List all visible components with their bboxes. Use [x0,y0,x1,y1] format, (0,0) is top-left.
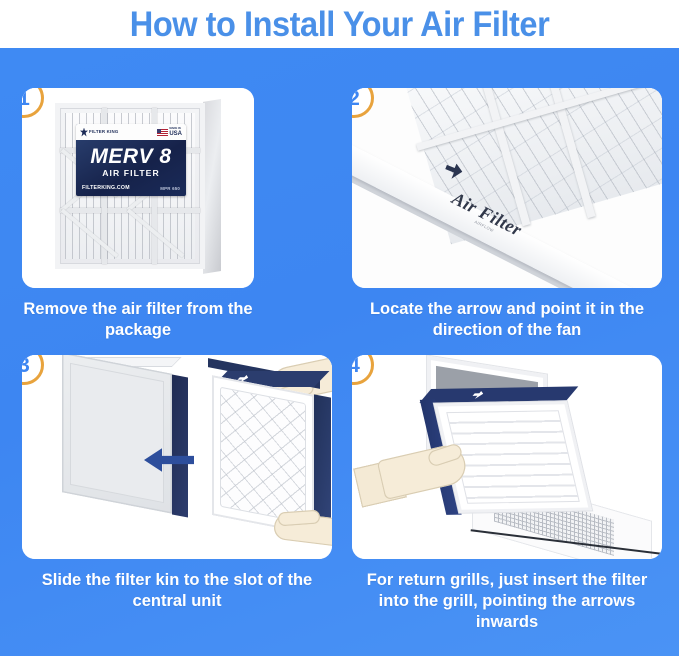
filter-top-face [419,386,578,402]
step-3-number: 3 [22,355,30,376]
new-filter [212,385,322,525]
filter-corner-photo: Air Filter AIRFLOW [352,88,662,288]
step-1-card: FILTER KING MADE IN USA [22,88,254,288]
step-3-caption: Slide the filter kin to the slot of the … [22,570,332,612]
step-2: Air Filter AIRFLOW 2 Locate the arrow an… [352,88,662,341]
sliding-filter-illustration [22,355,332,559]
slot-inner-panel [70,363,164,503]
usa-flag-icon [157,129,168,136]
slot-dark-edge [172,374,188,517]
step-2-number: 2 [352,88,360,109]
filter-mesh-pattern [220,387,306,524]
brand-name: FILTER KING [89,130,118,135]
filter-front-face: FILTER KING MADE IN USA [55,103,205,269]
usa-text: USA [169,131,182,137]
step-4-card: 4 [352,355,662,559]
step-4-number: 4 [352,355,360,376]
step-3-card: 3 [22,355,332,559]
air-filter-subtitle: AIR FILTER [76,168,186,178]
step-1-number: 1 [22,88,30,109]
step-4: 4 For return grills, just insert the fil… [352,355,662,633]
return-grill-illustration [352,355,662,559]
step-1-caption: Remove the air filter from the package [22,299,254,341]
page-title: How to Install Your Air Filter [130,7,549,42]
mpr-rating-text: MPR 650 [160,186,180,191]
made-in-usa-badge: MADE IN USA [157,127,182,137]
grill-louvers [446,410,580,504]
step-1: FILTER KING MADE IN USA [22,88,254,341]
step-3: 3 Slide the filter kin to the slot of th… [22,355,332,612]
filter-box: FILTER KING MADE IN USA [55,99,221,271]
air-filter-in-package-photo: FILTER KING MADE IN USA [22,88,254,288]
website-text: FILTERKING.COM [82,185,130,191]
crown-icon [80,128,88,137]
step-4-caption: For return grills, just insert the filte… [352,570,662,633]
steps-grid: FILTER KING MADE IN USA [0,48,679,656]
filter-side-face [203,99,221,274]
label-top-strip: FILTER KING MADE IN USA [76,124,186,140]
filter-product-label: FILTER KING MADE IN USA [76,124,186,196]
filter-king-logo: FILTER KING [80,128,118,137]
central-unit-slot [62,355,172,514]
step-2-caption: Locate the arrow and point it in the dir… [352,299,662,341]
infographic-page: How to Install Your Air Filter [0,0,679,656]
merv-rating-text: MERV 8 [76,146,186,167]
hand-lower-thumb [278,510,321,527]
step-2-card: Air Filter AIRFLOW 2 [352,88,662,288]
header-band: How to Install Your Air Filter [0,0,679,48]
